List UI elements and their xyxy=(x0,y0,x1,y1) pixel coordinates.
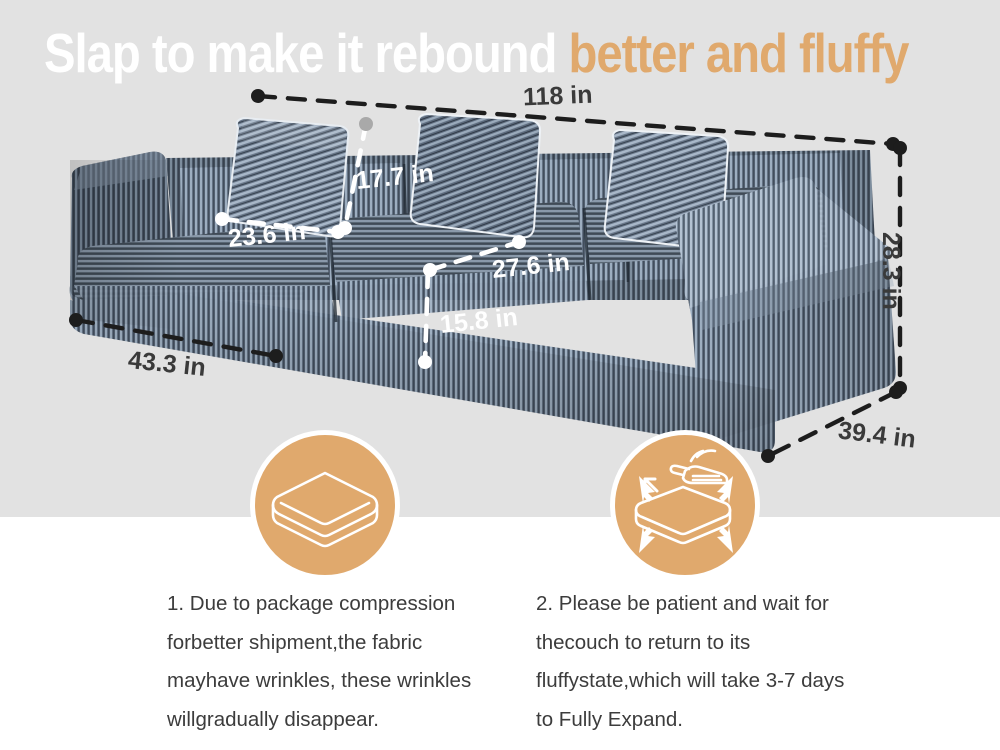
dimension-label-height-total: 28.3 in xyxy=(876,232,905,310)
compressed-cushion-badge xyxy=(250,430,400,580)
expanding-cushion-badge xyxy=(610,430,760,580)
left-shade xyxy=(70,160,180,330)
dimension-label-width-total: 118 in xyxy=(522,81,593,113)
hand-slap-cushion-icon xyxy=(615,435,755,575)
infographic-root: Slap to make it rebound better and fluff… xyxy=(0,0,1000,750)
caption-one: 1. Due to package compression forbetter … xyxy=(167,585,497,739)
flat-cushion-icon xyxy=(255,435,395,575)
caption-two: 2. Please be patient and wait for thecou… xyxy=(536,585,866,739)
